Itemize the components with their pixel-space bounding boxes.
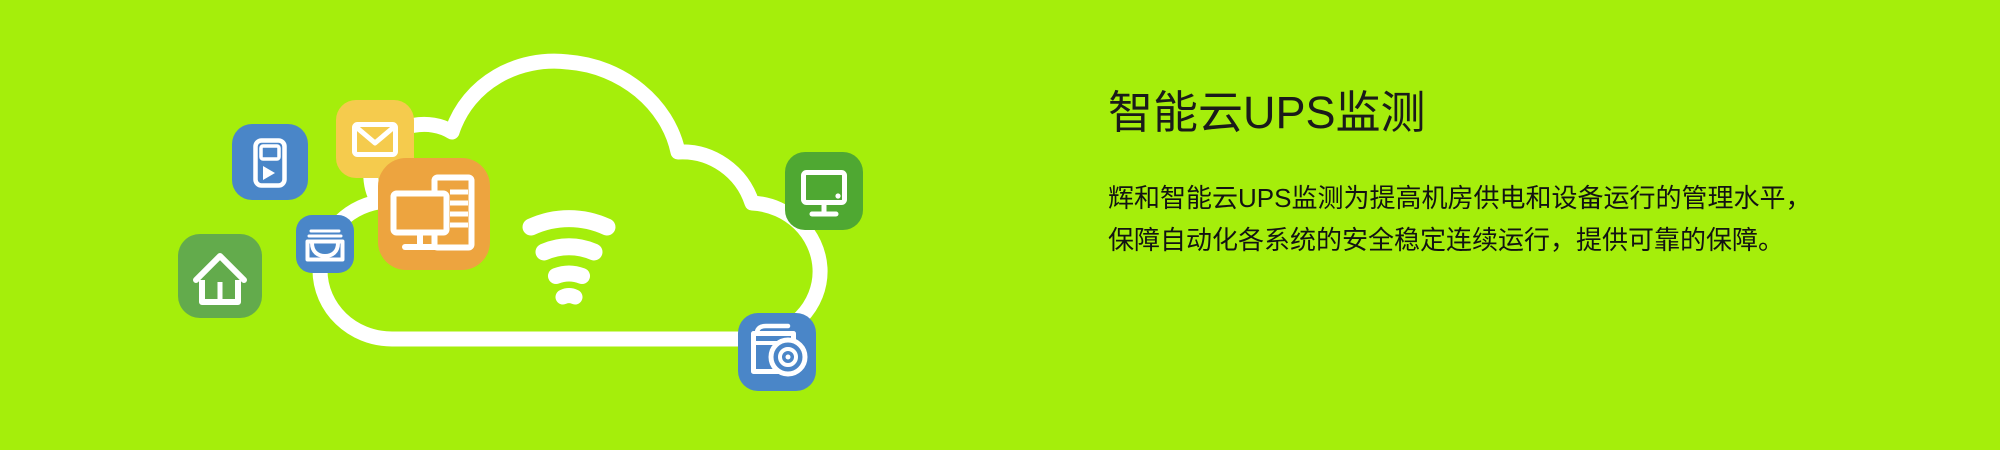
home-icon xyxy=(178,234,262,318)
television-monitor-icon xyxy=(785,152,863,230)
desktop-server-icon xyxy=(378,158,490,270)
cloud-illustration xyxy=(0,0,1060,450)
banner-text-block: 智能云UPS监测 辉和智能云UPS监测为提高机房供电和设备运行的管理水平， 保障… xyxy=(1108,86,1968,261)
description-line-1: 辉和智能云UPS监测为提高机房供电和设备运行的管理水平， xyxy=(1108,177,1968,219)
wifi-signal-icon xyxy=(531,219,607,297)
promo-banner: 智能云UPS监测 辉和智能云UPS监测为提高机房供电和设备运行的管理水平， 保障… xyxy=(0,0,2000,450)
banner-description: 辉和智能云UPS监测为提高机房供电和设备运行的管理水平， 保障自动化各系统的安全… xyxy=(1108,177,1968,261)
inbox-tray-icon xyxy=(296,215,354,273)
page-title: 智能云UPS监测 xyxy=(1108,86,1968,139)
description-line-2: 保障自动化各系统的安全稳定连续运行，提供可靠的保障。 xyxy=(1108,219,1968,261)
wallet-disc-icon xyxy=(738,313,816,391)
mobile-video-player-icon xyxy=(232,124,308,200)
illustration-svg xyxy=(0,0,1060,450)
